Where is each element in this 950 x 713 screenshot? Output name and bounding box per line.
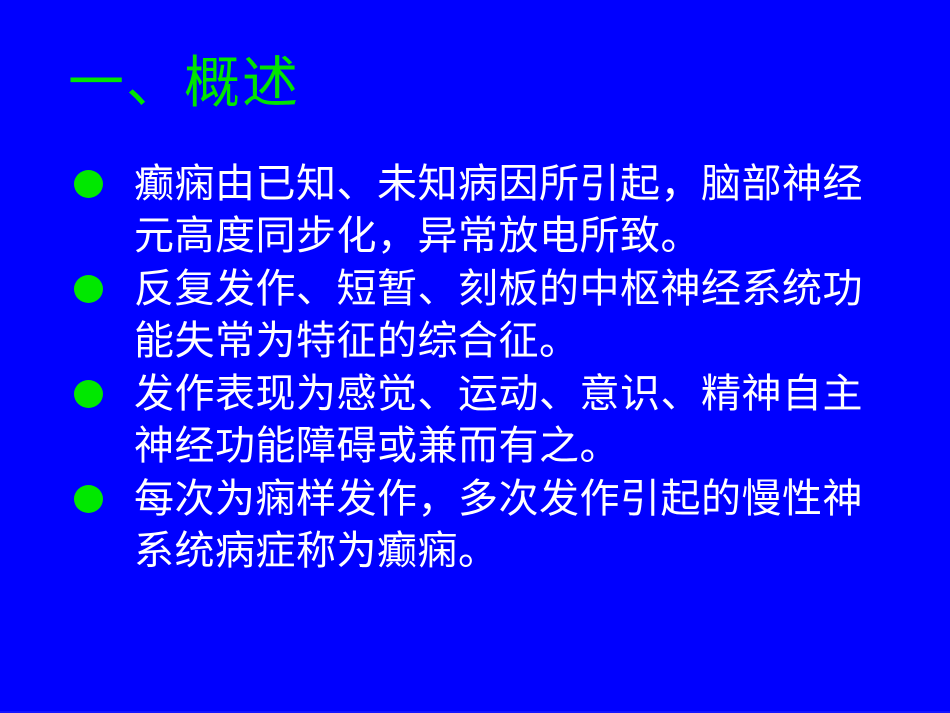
presentation-slide: 一、概述 癫痫由已知、未知病因所引起，脑部神经元高度同步化，异常放电所致。 反复… — [0, 0, 950, 713]
list-item: 每次为痫样发作，多次发作引起的慢性神系统病症称为癫痫。 — [70, 473, 900, 577]
list-item: 发作表现为感觉、运动、意识、精神自主神经功能障碍或兼而有之。 — [70, 368, 900, 472]
list-item: 癫痫由已知、未知病因所引起，脑部神经元高度同步化，异常放电所致。 — [70, 158, 900, 262]
bullet-list: 癫痫由已知、未知病因所引起，脑部神经元高度同步化，异常放电所致。 反复发作、短暂… — [70, 158, 900, 578]
filled-circle-bullet-icon — [74, 485, 103, 513]
list-item-label: 每次为痫样发作，多次发作引起的慢性神系统病症称为癫痫。 — [134, 473, 900, 577]
list-item-label: 反复发作、短暂、刻板的中枢神经系统功能失常为特征的综合征。 — [134, 263, 900, 367]
filled-circle-bullet-icon — [74, 275, 103, 303]
list-item: 反复发作、短暂、刻板的中枢神经系统功能失常为特征的综合征。 — [70, 263, 900, 367]
filled-circle-bullet-icon — [74, 170, 103, 198]
filled-circle-bullet-icon — [74, 380, 103, 408]
list-item-label: 癫痫由已知、未知病因所引起，脑部神经元高度同步化，异常放电所致。 — [134, 158, 900, 262]
page-title: 一、概述 — [68, 50, 300, 118]
list-item-label: 发作表现为感觉、运动、意识、精神自主神经功能障碍或兼而有之。 — [134, 368, 900, 472]
